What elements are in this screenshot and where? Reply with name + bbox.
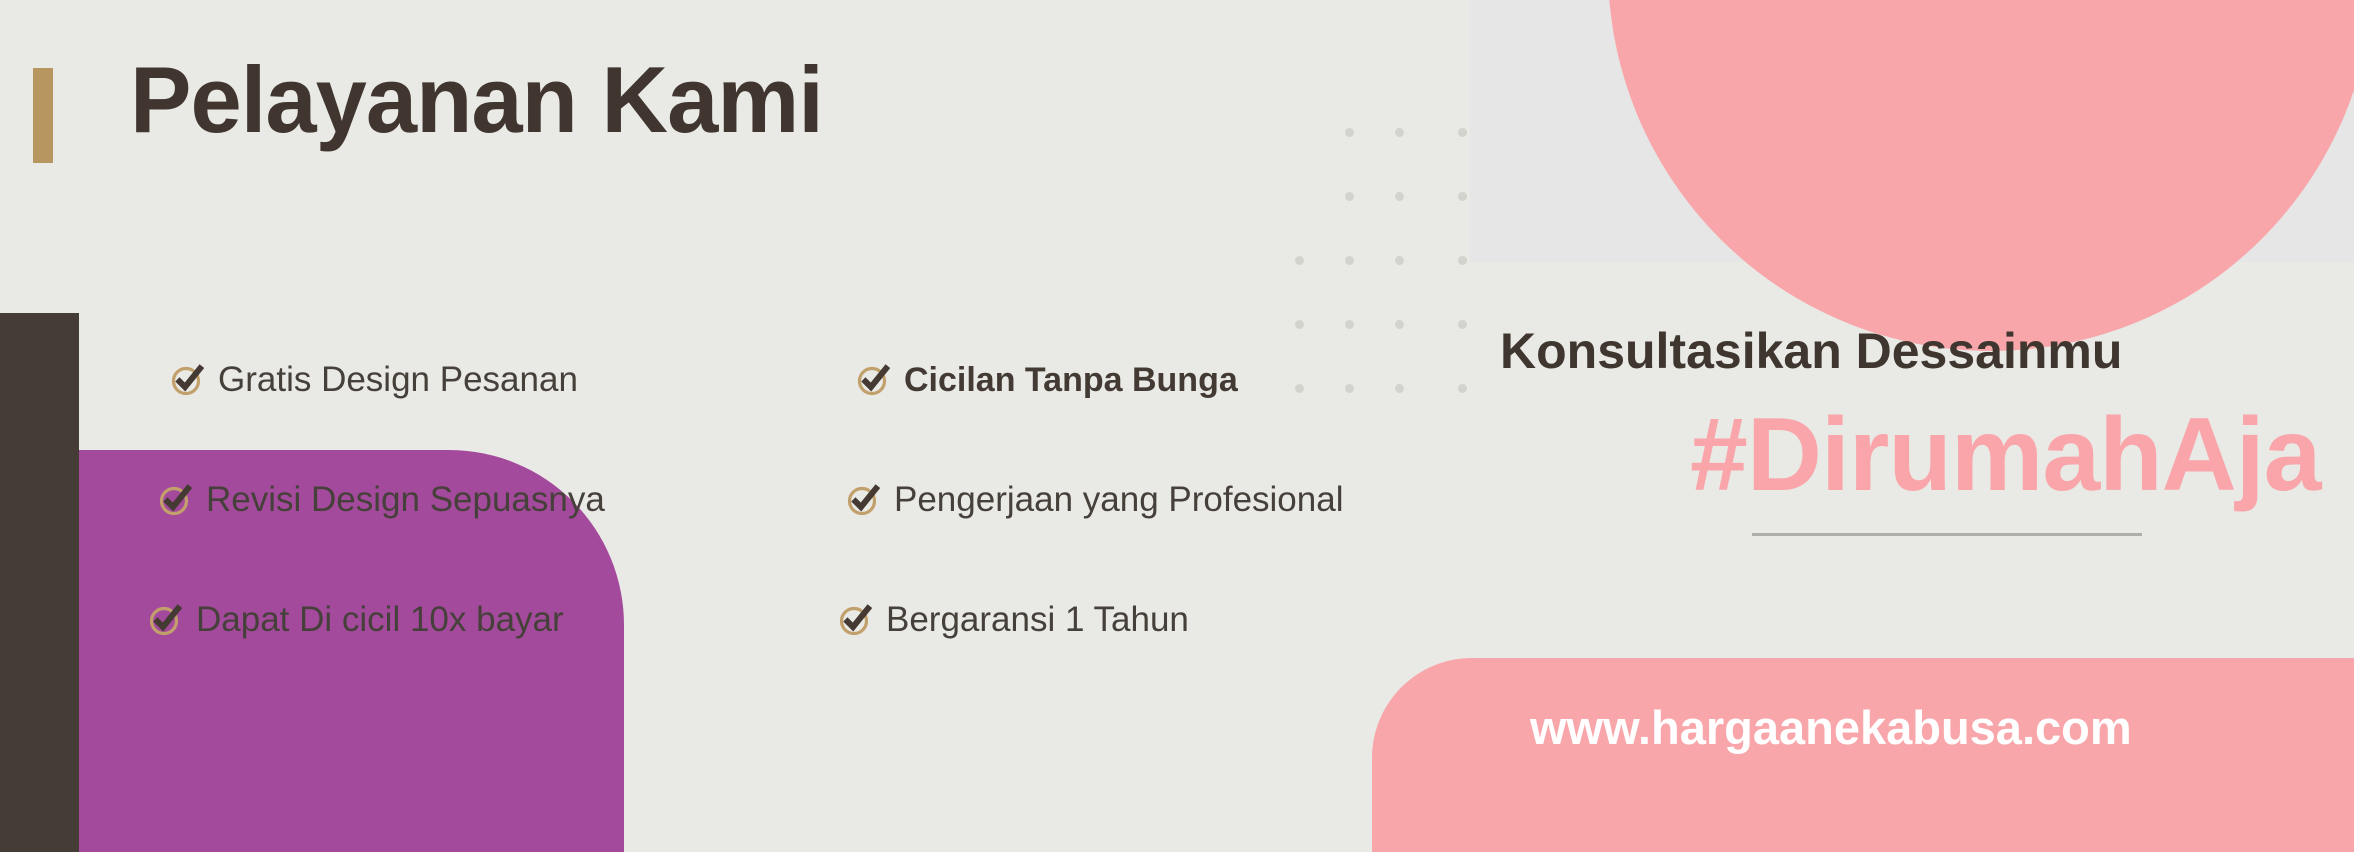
promo-heading: Konsultasikan Dessainmu [1500,322,2122,380]
gold-accent-bar [33,68,53,163]
list-item-label: Bergaransi 1 Tahun [886,600,1189,640]
grid-dot [1458,256,1467,265]
feature-list-right: Cicilan Tanpa Bunga Pengerjaan yang Prof… [838,320,1458,680]
list-item-label: Pengerjaan yang Profesional [894,480,1343,520]
grid-dot [1295,256,1304,265]
grid-dot [1458,128,1467,137]
page-title: Pelayanan Kami [130,48,823,151]
dot-grid-pattern [1245,128,1475,288]
check-circle-icon [846,482,882,518]
feature-list-left: Gratis Design Pesanan Revisi Design Sepu… [140,320,700,680]
check-circle-icon [148,602,184,638]
grid-dot [1395,128,1404,137]
list-item: Bergaransi 1 Tahun [838,560,1458,680]
website-url[interactable]: www.hargaanekabusa.com [1530,700,2132,755]
check-circle-icon [170,362,206,398]
service-banner: Pelayanan Kami Gratis Design Pesanan Rev… [0,0,2354,852]
list-item-label: Gratis Design Pesanan [218,360,578,400]
website-bar [1372,658,2354,852]
list-item: Cicilan Tanpa Bunga [838,320,1458,440]
check-circle-icon [856,362,892,398]
grid-dot [1395,192,1404,201]
list-item-label: Revisi Design Sepuasnya [206,480,605,520]
check-circle-icon [838,602,874,638]
hashtag-underline [1752,533,2142,536]
list-item: Revisi Design Sepuasnya [140,440,700,560]
grid-dot [1345,256,1354,265]
grid-dot [1458,192,1467,201]
list-item: Pengerjaan yang Profesional [838,440,1458,560]
pink-circle-shape [1608,0,2354,351]
list-item: Gratis Design Pesanan [140,320,700,440]
list-item-label: Cicilan Tanpa Bunga [904,361,1238,400]
grid-dot [1345,192,1354,201]
dark-block-shape [0,313,79,852]
list-item: Dapat Di cicil 10x bayar [140,560,700,680]
grid-dot [1458,320,1467,329]
grid-dot [1345,128,1354,137]
grid-dot [1395,256,1404,265]
check-circle-icon [158,482,194,518]
hashtag-text: #DirumahAja [1690,396,2321,515]
list-item-label: Dapat Di cicil 10x bayar [196,600,564,640]
grid-dot [1458,384,1467,393]
